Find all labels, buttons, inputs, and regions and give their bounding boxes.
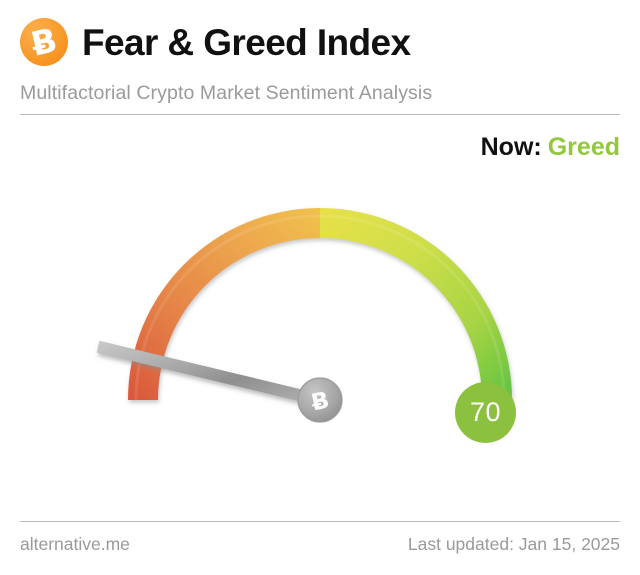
- gauge-needle: [94, 280, 327, 464]
- footer-site[interactable]: alternative.me: [20, 534, 130, 555]
- page-subtitle: Multifactorial Crypto Market Sentiment A…: [20, 82, 620, 105]
- status-line: Now:Greed: [481, 133, 620, 162]
- status-label: Now:: [481, 133, 542, 161]
- footer: alternative.me Last updated: Jan 15, 202…: [20, 534, 620, 555]
- bitcoin-icon: Ƀ: [20, 18, 68, 66]
- gauge-svg: Ƀ: [0, 176, 640, 506]
- title-row: Ƀ Fear & Greed Index: [20, 14, 620, 70]
- fear-greed-index-page: Ƀ Fear & Greed Index Multifactorial Cryp…: [0, 0, 640, 575]
- header-divider: [20, 114, 620, 115]
- page-title: Fear & Greed Index: [82, 24, 411, 61]
- bitcoin-glyph: Ƀ: [17, 21, 71, 64]
- gauge-needle-hub: Ƀ: [298, 378, 342, 422]
- gauge: Ƀ 70: [0, 176, 640, 506]
- footer-divider: [20, 521, 620, 522]
- footer-updated: Last updated: Jan 15, 2025: [408, 534, 620, 555]
- header: Ƀ Fear & Greed Index Multifactorial Cryp…: [20, 14, 620, 105]
- status-value: Greed: [548, 133, 620, 161]
- gauge-value-badge: 70: [455, 382, 516, 443]
